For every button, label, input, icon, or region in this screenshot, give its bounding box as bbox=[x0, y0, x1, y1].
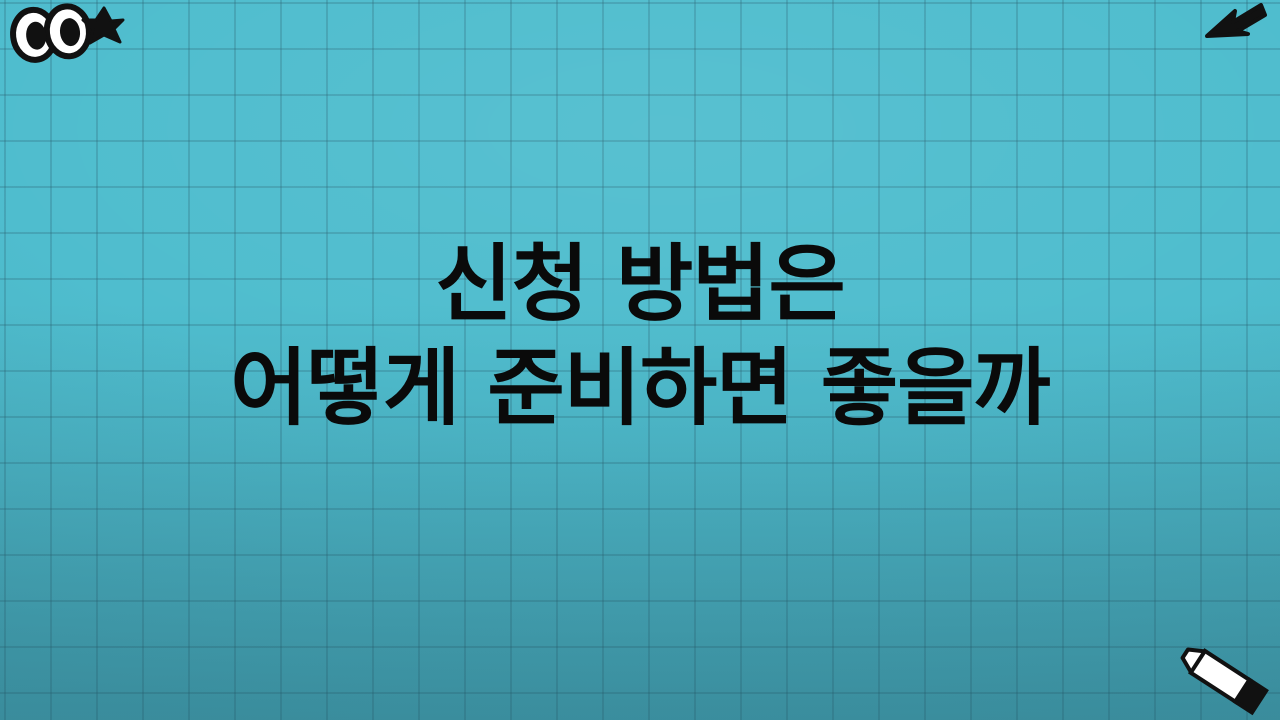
arrow-cursor-icon bbox=[1205, 2, 1267, 50]
title-line-2: 어떻게 준비하면 좋을까 bbox=[0, 336, 1280, 440]
title-line-1: 신청 방법은 bbox=[0, 232, 1280, 336]
star-icon bbox=[82, 6, 124, 46]
title-card: 신청 방법은 어떻게 준비하면 좋을까 bbox=[0, 0, 1280, 720]
pencil-icon bbox=[1166, 646, 1274, 716]
title-block: 신청 방법은 어떻게 준비하면 좋을까 bbox=[0, 232, 1280, 440]
